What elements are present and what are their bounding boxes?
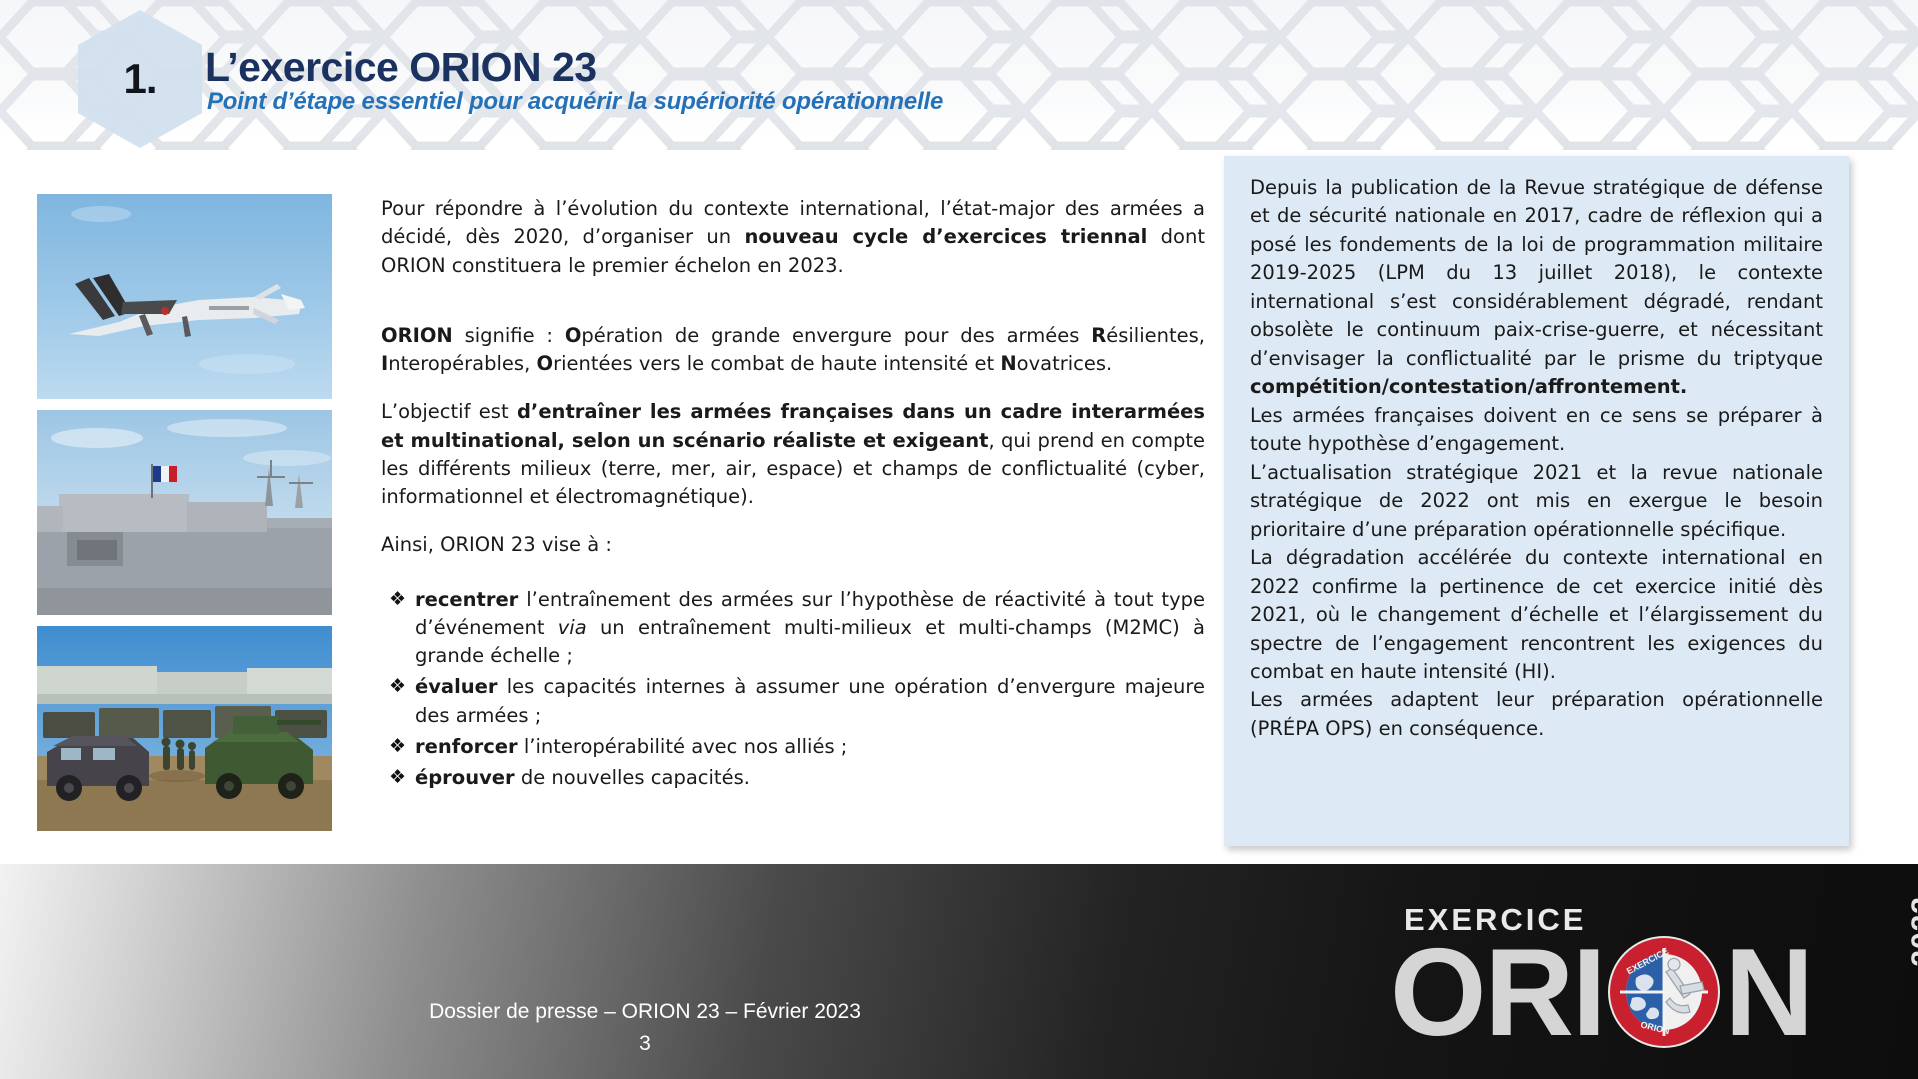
main-text-column: Pour répondre à l’évolution du contexte … [381, 195, 1205, 796]
diamond-bullet-icon: ❖ [389, 733, 406, 761]
list-item: ❖ éprouver de nouvelles capacités. [381, 764, 1205, 792]
acronym-letter-r: R [1091, 324, 1106, 347]
paragraph-acronym: ORION signifie : Opération de grande env… [381, 322, 1205, 379]
list-item: ❖ recentrer l’entraînement des armées su… [381, 586, 1205, 671]
p1-bold: nouveau cycle d’exercices triennal [744, 225, 1147, 248]
p3-t1: L’objectif est [381, 400, 517, 423]
logo-letter-n: N [1724, 938, 1812, 1050]
side-paragraph-2: Les armées françaises doivent en ce sens… [1250, 402, 1823, 459]
diamond-bullet-icon: ❖ [389, 764, 406, 792]
bullet-rest-a: l’interopérabilité avec nos alliés ; [518, 735, 848, 758]
page-title: L’exercice ORION 23 [205, 44, 597, 91]
p2-t4: nteropérables, [388, 352, 536, 375]
list-item: ❖ évaluer les capacités internes à assum… [381, 673, 1205, 730]
logo-wordmark: O R I [1390, 934, 1812, 1054]
bullet-lead: renforcer [415, 735, 518, 758]
section-number-badge: 1. [76, 8, 204, 150]
paragraph-objective: L’objectif est d’entraîner les armées fr… [381, 398, 1205, 511]
spacer [381, 300, 1205, 322]
bullet-rest-a: les capacités internes à assumer une opé… [415, 675, 1205, 726]
logo-letter-r: R [1484, 938, 1572, 1050]
diamond-bullet-icon: ❖ [389, 586, 406, 614]
acronym-letter-o2: O [536, 352, 553, 375]
slide-page: 1. L’exercice ORION 23 Point d’étape ess… [0, 0, 1918, 1079]
section-number: 1. [76, 8, 204, 150]
page-subtitle: Point d’étape essentiel pour acquérir la… [207, 88, 943, 116]
p2-t5: rientées vers le combat de haute intensi… [553, 352, 1000, 375]
p2-t2: pération de grande envergure pour des ar… [581, 324, 1091, 347]
side-p1-text: Depuis la publication de la Revue straté… [1250, 176, 1823, 370]
p2-t6: ovatrices. [1017, 352, 1113, 375]
page-number: 3 [0, 1032, 1290, 1056]
acronym-letter-n: N [1000, 352, 1016, 375]
p2-t1: signifie : [453, 324, 565, 347]
acronym-letter-o: O [565, 324, 582, 347]
bullet-lead: évaluer [415, 675, 498, 698]
logo-letter-i: I [1572, 938, 1604, 1050]
bullet-italic: via [558, 616, 587, 639]
bullet-rest-a: de nouvelles capacités. [515, 766, 750, 789]
side-paragraph-5: Les armées adaptent leur préparation opé… [1250, 686, 1823, 743]
footer-caption: Dossier de presse – ORION 23 – Février 2… [0, 1000, 1290, 1024]
objectives-list: ❖ recentrer l’entraînement des armées su… [381, 586, 1205, 793]
side-paragraph-3: L’actualisation stratégique 2021 et la r… [1250, 459, 1823, 544]
orion-emblem-icon: EXERCICE ORION [1606, 934, 1722, 1054]
drone-reaper-photo [37, 194, 332, 399]
diamond-bullet-icon: ❖ [389, 673, 406, 701]
side-paragraph-1: Depuis la publication de la Revue straté… [1250, 174, 1823, 402]
side-paragraph-4: La dégradation accélérée du contexte int… [1250, 544, 1823, 686]
logo-year: 2023 [1906, 896, 1918, 967]
navy-ship-photo [37, 410, 332, 615]
bullet-lead: recentrer [415, 588, 518, 611]
p2-t3: ésilientes, [1106, 324, 1205, 347]
orion-logo: EXERCICE O R I [1380, 890, 1900, 1065]
bullet-lead: éprouver [415, 766, 515, 789]
context-side-panel: Depuis la publication de la Revue straté… [1224, 156, 1849, 846]
page-header: 1. L’exercice ORION 23 Point d’étape ess… [0, 0, 1918, 150]
acronym-orion: ORION [381, 324, 453, 347]
paragraph-aims-intro: Ainsi, ORION 23 vise à : [381, 531, 1205, 559]
list-item: ❖ renforcer l’interopérabilité avec nos … [381, 733, 1205, 761]
logo-letter-o: O [1390, 938, 1484, 1050]
paragraph-context: Pour répondre à l’évolution du contexte … [381, 195, 1205, 280]
armored-convoy-photo [37, 626, 332, 831]
side-p1-bold: compétition/contestation/affrontement. [1250, 375, 1687, 398]
